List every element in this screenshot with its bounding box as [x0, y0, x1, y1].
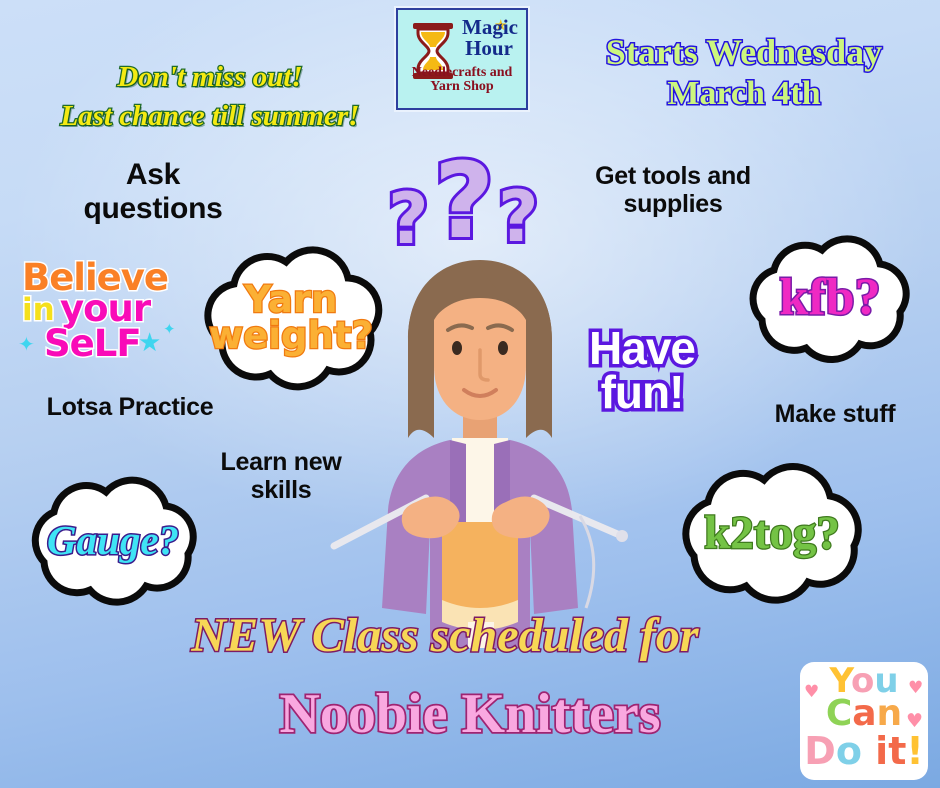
- heart-icon-3: ♥: [906, 710, 923, 732]
- thought-bubble-kfb: kfb?: [730, 228, 930, 368]
- start-date-text: Starts Wednesday March 4th: [548, 32, 940, 113]
- question-marks-group: ? ? ?: [386, 146, 556, 264]
- caption-get-tools: Get tools and supplies: [548, 162, 798, 218]
- thought-bubble-k2tog: k2tog?: [656, 458, 888, 608]
- urgency-line-1: Don't miss out!: [14, 58, 406, 97]
- urgency-line-2: Last chance till summer!: [14, 97, 406, 136]
- believe-word-self: SeLF: [44, 322, 141, 365]
- logo-line-magic: Magic: [458, 18, 522, 38]
- thought-bubble-yarn-weight: Yarnweight?: [186, 238, 396, 398]
- caption-ask-questions: Ask questions: [38, 158, 268, 225]
- caption-ask-line2: questions: [38, 192, 268, 226]
- urgency-text: Don't miss out! Last chance till summer!: [14, 58, 406, 136]
- start-date-line-1: Starts Wednesday: [548, 32, 940, 74]
- logo-line-hour: Hour: [456, 39, 522, 59]
- caption-tools-line2: supplies: [548, 190, 798, 218]
- sparkle-star-icon-2: ★: [138, 328, 161, 358]
- headline-line-1: NEW Class scheduled for: [60, 612, 830, 660]
- thought-bubble-k2tog-text: k2tog?: [656, 458, 888, 620]
- logo-line-needlecrafts: Needlecrafts and: [400, 66, 524, 80]
- caption-ask-line1: Ask: [38, 158, 268, 192]
- heart-icon-2: ♥: [908, 678, 923, 698]
- thought-bubble-kfb-text: kfb?: [730, 228, 930, 378]
- thought-bubble-gauge-text: Gauge?: [8, 472, 218, 614]
- caption-make-stuff: Make stuff: [740, 400, 930, 428]
- believe-in-yourself-sticker: Believe in your SeLF ✦ ★ ✦: [8, 256, 188, 368]
- question-mark-icon-center: ?: [434, 140, 494, 262]
- sparkle-star-icon-3: ✦: [163, 320, 176, 338]
- yarn-line2: weight?: [209, 314, 373, 357]
- logo-line-yarnshop: Yarn Shop: [400, 80, 524, 94]
- logo-subtitle: Needlecrafts and Yarn Shop: [400, 66, 524, 95]
- headline-line-2: Noobie Knitters: [120, 686, 820, 742]
- start-date-line-2: March 4th: [548, 74, 940, 113]
- thought-bubble-yarn-weight-text: Yarnweight?: [186, 238, 396, 402]
- poster-canvas: ★ Magic Hour Needlecrafts and Yarn Shop …: [0, 0, 940, 788]
- caption-tools-line1: Get tools and: [548, 162, 798, 190]
- sparkle-star-icon-1: ✦: [18, 332, 35, 356]
- thought-bubble-gauge: Gauge?: [8, 472, 218, 608]
- shop-logo: ★ Magic Hour Needlecrafts and Yarn Shop: [396, 8, 528, 110]
- question-mark-icon-right: ?: [498, 176, 539, 258]
